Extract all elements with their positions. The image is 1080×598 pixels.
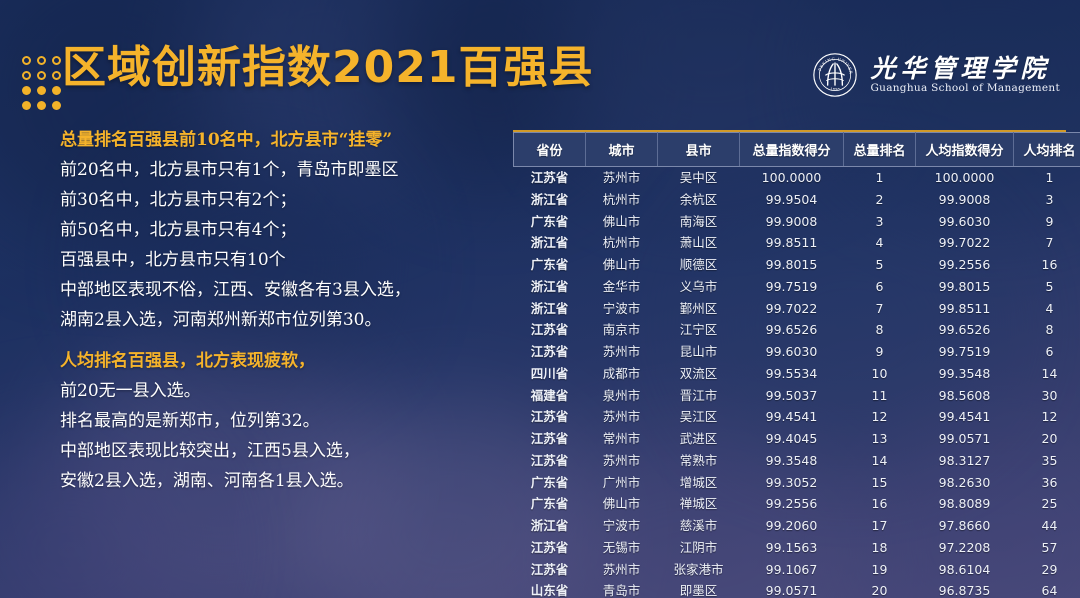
cell-total-score: 99.4541	[740, 406, 844, 428]
cell-province: 江苏省	[514, 341, 586, 363]
table-row: 江苏省常州市武进区99.40451399.057120	[514, 428, 1080, 450]
column-header-total-rank: 总量排名	[844, 133, 916, 167]
dot-icon	[37, 56, 46, 65]
cell-total-score: 100.0000	[740, 167, 844, 189]
cell-city: 苏州市	[586, 406, 658, 428]
cell-percapita-rank: 5	[1014, 276, 1080, 298]
cell-city: 广州市	[586, 472, 658, 494]
cell-province: 江苏省	[514, 428, 586, 450]
cell-county: 慈溪市	[658, 515, 740, 537]
cell-total-rank: 13	[844, 428, 916, 450]
cell-total-rank: 20	[844, 580, 916, 598]
cell-total-rank: 1	[844, 167, 916, 189]
table-header: 省份 城市 县市 总量指数得分 总量排名 人均指数得分 人均排名	[514, 133, 1080, 167]
cell-total-rank: 6	[844, 276, 916, 298]
cell-total-score: 99.6526	[740, 319, 844, 341]
table-row: 江苏省苏州市吴中区100.00001100.00001	[514, 167, 1080, 189]
table-row: 浙江省金华市义乌市99.7519699.80155	[514, 276, 1080, 298]
cell-city: 佛山市	[586, 211, 658, 233]
cell-city: 苏州市	[586, 341, 658, 363]
table-row: 江苏省无锡市江阴市99.15631897.220857	[514, 537, 1080, 559]
cell-percapita-score: 99.2556	[916, 254, 1014, 276]
paragraph-line: 前20无一县入选。	[60, 383, 500, 400]
paragraph-line: 前30名中，北方县市只有2个；	[60, 192, 500, 209]
cell-percapita-score: 100.0000	[916, 167, 1014, 189]
table-row: 浙江省杭州市余杭区99.9504299.90083	[514, 189, 1080, 211]
narrative-column: 总量排名百强县前10名中，北方县市“挂零” 前20名中，北方县市只有1个，青岛市…	[60, 132, 500, 490]
paragraph-line: 前50名中，北方县市只有4个；	[60, 222, 500, 239]
cell-total-score: 99.8511	[740, 232, 844, 254]
cell-county: 吴中区	[658, 167, 740, 189]
table-row: 广东省广州市增城区99.30521598.263036	[514, 472, 1080, 494]
paragraph-line: 百强县中，北方县市只有10个	[60, 252, 500, 269]
cell-city: 无锡市	[586, 537, 658, 559]
cell-city: 青岛市	[586, 580, 658, 598]
cell-city: 常州市	[586, 428, 658, 450]
column-header-province: 省份	[514, 133, 586, 167]
cell-total-score: 99.0571	[740, 580, 844, 598]
cell-province: 浙江省	[514, 515, 586, 537]
cell-province: 江苏省	[514, 319, 586, 341]
dot-icon	[22, 71, 31, 80]
cell-county: 晋江市	[658, 385, 740, 407]
cell-county: 南海区	[658, 211, 740, 233]
dot-icon	[52, 56, 61, 65]
cell-percapita-score: 99.6030	[916, 211, 1014, 233]
cell-percapita-rank: 4	[1014, 298, 1080, 320]
dot-icon	[22, 101, 31, 110]
cell-total-score: 99.9504	[740, 189, 844, 211]
cell-percapita-rank: 36	[1014, 472, 1080, 494]
paragraph-lead: 人均排名百强县，北方表现疲软，	[60, 353, 500, 370]
cell-county: 萧山区	[658, 232, 740, 254]
cell-total-score: 99.9008	[740, 211, 844, 233]
cell-percapita-rank: 14	[1014, 363, 1080, 385]
table-row: 江苏省苏州市常熟市99.35481498.312735	[514, 450, 1080, 472]
cell-total-rank: 18	[844, 537, 916, 559]
column-header-percapita-index-score: 人均指数得分	[916, 133, 1014, 167]
cell-percapita-rank: 16	[1014, 254, 1080, 276]
cell-percapita-rank: 30	[1014, 385, 1080, 407]
cell-city: 苏州市	[586, 450, 658, 472]
table-row: 浙江省杭州市萧山区99.8511499.70227	[514, 232, 1080, 254]
cell-percapita-score: 98.5608	[916, 385, 1014, 407]
cell-county: 吴江区	[658, 406, 740, 428]
column-header-total-index-score: 总量指数得分	[740, 133, 844, 167]
cell-county: 顺德区	[658, 254, 740, 276]
cell-city: 苏州市	[586, 167, 658, 189]
dot-icon	[52, 86, 61, 95]
cell-province: 江苏省	[514, 450, 586, 472]
cell-total-rank: 15	[844, 472, 916, 494]
cell-total-score: 99.7519	[740, 276, 844, 298]
dot-grid-decoration	[22, 56, 62, 111]
cell-city: 成都市	[586, 363, 658, 385]
cell-total-rank: 9	[844, 341, 916, 363]
cell-total-score: 99.3052	[740, 472, 844, 494]
table-row: 江苏省苏州市吴江区99.45411299.454112	[514, 406, 1080, 428]
cell-city: 宁波市	[586, 298, 658, 320]
dot-icon	[52, 71, 61, 80]
column-header-county: 县市	[658, 133, 740, 167]
paragraph-line: 安徽2县入选，湖南、河南各1县入选。	[60, 473, 500, 490]
cell-total-score: 99.8015	[740, 254, 844, 276]
cell-total-score: 99.4045	[740, 428, 844, 450]
ranking-table-container: 省份 城市 县市 总量指数得分 总量排名 人均指数得分 人均排名 江苏省苏州市吴…	[513, 130, 1066, 598]
cell-total-rank: 4	[844, 232, 916, 254]
cell-percapita-score: 97.8660	[916, 515, 1014, 537]
logo-chinese-name: 光华管理学院	[870, 56, 1060, 81]
cell-city: 苏州市	[586, 559, 658, 581]
dot-icon	[37, 101, 46, 110]
cell-total-score: 99.7022	[740, 298, 844, 320]
cell-percapita-rank: 3	[1014, 189, 1080, 211]
cell-county: 常熟市	[658, 450, 740, 472]
cell-province: 广东省	[514, 254, 586, 276]
cell-city: 杭州市	[586, 232, 658, 254]
cell-total-score: 99.5534	[740, 363, 844, 385]
narrative-paragraph: 人均排名百强县，北方表现疲软， 前20无一县入选。 排名最高的是新郑市，位列第3…	[60, 353, 500, 490]
cell-total-score: 99.2060	[740, 515, 844, 537]
cell-county: 张家港市	[658, 559, 740, 581]
cell-percapita-score: 99.8015	[916, 276, 1014, 298]
cell-total-rank: 19	[844, 559, 916, 581]
paragraph-line: 中部地区表现不俗，江西、安徽各有3县入选，	[60, 282, 500, 299]
slide-canvas: 区域创新指数2021百强县 PEKING UNIVERSITY 1898 光华管…	[0, 0, 1080, 598]
cell-percapita-rank: 44	[1014, 515, 1080, 537]
cell-total-score: 99.6030	[740, 341, 844, 363]
cell-percapita-rank: 7	[1014, 232, 1080, 254]
cell-percapita-score: 99.4541	[916, 406, 1014, 428]
cell-percapita-rank: 6	[1014, 341, 1080, 363]
cell-percapita-score: 99.7519	[916, 341, 1014, 363]
cell-city: 杭州市	[586, 189, 658, 211]
cell-percapita-rank: 64	[1014, 580, 1080, 598]
cell-city: 佛山市	[586, 493, 658, 515]
page-title: 区域创新指数2021百强县	[62, 46, 593, 90]
cell-total-rank: 14	[844, 450, 916, 472]
cell-percapita-score: 99.8511	[916, 298, 1014, 320]
cell-province: 江苏省	[514, 559, 586, 581]
paragraph-line: 中部地区表现比较突出，江西5县入选，	[60, 443, 500, 460]
cell-county: 江阴市	[658, 537, 740, 559]
cell-percapita-rank: 12	[1014, 406, 1080, 428]
table-row: 江苏省南京市江宁区99.6526899.65268	[514, 319, 1080, 341]
dot-icon	[37, 71, 46, 80]
table-header-row: 省份 城市 县市 总量指数得分 总量排名 人均指数得分 人均排名	[514, 133, 1080, 167]
logo-english-name: Guanghua School of Management	[870, 83, 1060, 94]
cell-province: 江苏省	[514, 167, 586, 189]
cell-county: 即墨区	[658, 580, 740, 598]
cell-percapita-rank: 35	[1014, 450, 1080, 472]
table-row: 广东省佛山市顺德区99.8015599.255616	[514, 254, 1080, 276]
cell-percapita-rank: 8	[1014, 319, 1080, 341]
cell-percapita-score: 99.7022	[916, 232, 1014, 254]
cell-county: 鄞州区	[658, 298, 740, 320]
cell-province: 广东省	[514, 211, 586, 233]
cell-percapita-score: 99.9008	[916, 189, 1014, 211]
cell-province: 山东省	[514, 580, 586, 598]
cell-province: 浙江省	[514, 232, 586, 254]
dot-icon	[22, 86, 31, 95]
cell-percapita-score: 98.2630	[916, 472, 1014, 494]
paragraph-lead: 总量排名百强县前10名中，北方县市“挂零”	[60, 132, 500, 149]
cell-city: 佛山市	[586, 254, 658, 276]
cell-total-rank: 3	[844, 211, 916, 233]
cell-percapita-score: 98.6104	[916, 559, 1014, 581]
cell-county: 武进区	[658, 428, 740, 450]
cell-county: 双流区	[658, 363, 740, 385]
table-row: 浙江省宁波市慈溪市99.20601797.866044	[514, 515, 1080, 537]
cell-percapita-rank: 1	[1014, 167, 1080, 189]
cell-city: 泉州市	[586, 385, 658, 407]
paragraph-line: 前20名中，北方县市只有1个，青岛市即墨区	[60, 162, 500, 179]
svg-text:1898: 1898	[831, 88, 841, 92]
column-header-percapita-rank: 人均排名	[1014, 133, 1080, 167]
cell-total-rank: 11	[844, 385, 916, 407]
cell-county: 禅城区	[658, 493, 740, 515]
cell-percapita-score: 99.3548	[916, 363, 1014, 385]
table-body: 江苏省苏州市吴中区100.00001100.00001浙江省杭州市余杭区99.9…	[514, 167, 1080, 598]
cell-province: 四川省	[514, 363, 586, 385]
ranking-table: 省份 城市 县市 总量指数得分 总量排名 人均指数得分 人均排名 江苏省苏州市吴…	[513, 132, 1080, 598]
cell-total-rank: 5	[844, 254, 916, 276]
cell-province: 江苏省	[514, 406, 586, 428]
cell-city: 金华市	[586, 276, 658, 298]
table-row: 福建省泉州市晋江市99.50371198.560830	[514, 385, 1080, 407]
cell-total-score: 99.1067	[740, 559, 844, 581]
cell-province: 浙江省	[514, 298, 586, 320]
cell-percapita-rank: 57	[1014, 537, 1080, 559]
dot-icon	[37, 86, 46, 95]
cell-county: 江宁区	[658, 319, 740, 341]
cell-province: 福建省	[514, 385, 586, 407]
cell-province: 广东省	[514, 472, 586, 494]
cell-city: 宁波市	[586, 515, 658, 537]
cell-percapita-score: 96.8735	[916, 580, 1014, 598]
table-row: 江苏省苏州市昆山市99.6030999.75196	[514, 341, 1080, 363]
paragraph-line: 排名最高的是新郑市，位列第32。	[60, 413, 500, 430]
cell-percapita-score: 98.3127	[916, 450, 1014, 472]
table-row: 山东省青岛市即墨区99.05712096.873564	[514, 580, 1080, 598]
cell-percapita-rank: 29	[1014, 559, 1080, 581]
cell-province: 浙江省	[514, 276, 586, 298]
cell-total-score: 99.2556	[740, 493, 844, 515]
cell-percapita-score: 98.8089	[916, 493, 1014, 515]
cell-county: 余杭区	[658, 189, 740, 211]
table-row: 四川省成都市双流区99.55341099.354814	[514, 363, 1080, 385]
cell-total-rank: 16	[844, 493, 916, 515]
cell-province: 江苏省	[514, 537, 586, 559]
cell-total-score: 99.5037	[740, 385, 844, 407]
cell-province: 广东省	[514, 493, 586, 515]
cell-percapita-score: 97.2208	[916, 537, 1014, 559]
peking-university-seal-icon: PEKING UNIVERSITY 1898	[812, 52, 858, 98]
cell-total-rank: 8	[844, 319, 916, 341]
narrative-paragraph: 总量排名百强县前10名中，北方县市“挂零” 前20名中，北方县市只有1个，青岛市…	[60, 132, 500, 329]
cell-total-rank: 2	[844, 189, 916, 211]
cell-percapita-rank: 25	[1014, 493, 1080, 515]
cell-county: 昆山市	[658, 341, 740, 363]
dot-icon	[52, 101, 61, 110]
cell-percapita-score: 99.0571	[916, 428, 1014, 450]
table-row: 浙江省宁波市鄞州区99.7022799.85114	[514, 298, 1080, 320]
cell-city: 南京市	[586, 319, 658, 341]
cell-total-rank: 7	[844, 298, 916, 320]
cell-total-rank: 10	[844, 363, 916, 385]
cell-total-rank: 17	[844, 515, 916, 537]
table-row: 广东省佛山市禅城区99.25561698.808925	[514, 493, 1080, 515]
cell-total-score: 99.1563	[740, 537, 844, 559]
paragraph-line: 湖南2县入选，河南郑州新郑市位列第30。	[60, 312, 500, 329]
cell-county: 义乌市	[658, 276, 740, 298]
cell-percapita-score: 99.6526	[916, 319, 1014, 341]
cell-percapita-rank: 20	[1014, 428, 1080, 450]
institution-logo: PEKING UNIVERSITY 1898 光华管理学院 Guanghua S…	[812, 52, 1060, 98]
table-row: 广东省佛山市南海区99.9008399.60309	[514, 211, 1080, 233]
cell-total-score: 99.3548	[740, 450, 844, 472]
cell-total-rank: 12	[844, 406, 916, 428]
column-header-city: 城市	[586, 133, 658, 167]
dot-icon	[22, 56, 31, 65]
cell-percapita-rank: 9	[1014, 211, 1080, 233]
table-row: 江苏省苏州市张家港市99.10671998.610429	[514, 559, 1080, 581]
cell-province: 浙江省	[514, 189, 586, 211]
cell-county: 增城区	[658, 472, 740, 494]
